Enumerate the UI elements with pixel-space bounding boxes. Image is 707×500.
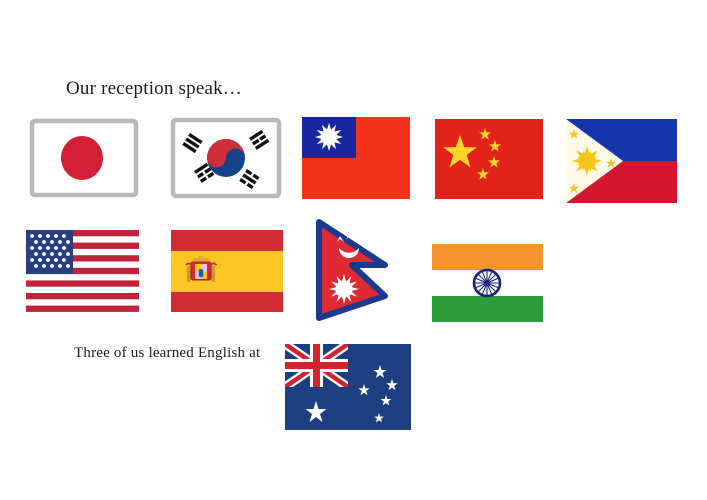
flag-taiwan xyxy=(301,116,411,200)
flag-china xyxy=(434,118,544,200)
flag-united-states xyxy=(25,229,140,313)
flag-south-korea xyxy=(170,117,282,199)
flag-spain xyxy=(170,229,284,313)
caption-english: Three of us learned English at xyxy=(74,345,260,362)
flag-australia xyxy=(284,343,412,431)
flag-nepal xyxy=(311,218,403,323)
flag-philippines xyxy=(565,118,678,204)
flag-japan xyxy=(29,118,139,198)
flag-india xyxy=(431,243,544,323)
page-title: Our reception speak… xyxy=(66,78,242,100)
slide-canvas: Our reception speak… xyxy=(0,0,707,500)
